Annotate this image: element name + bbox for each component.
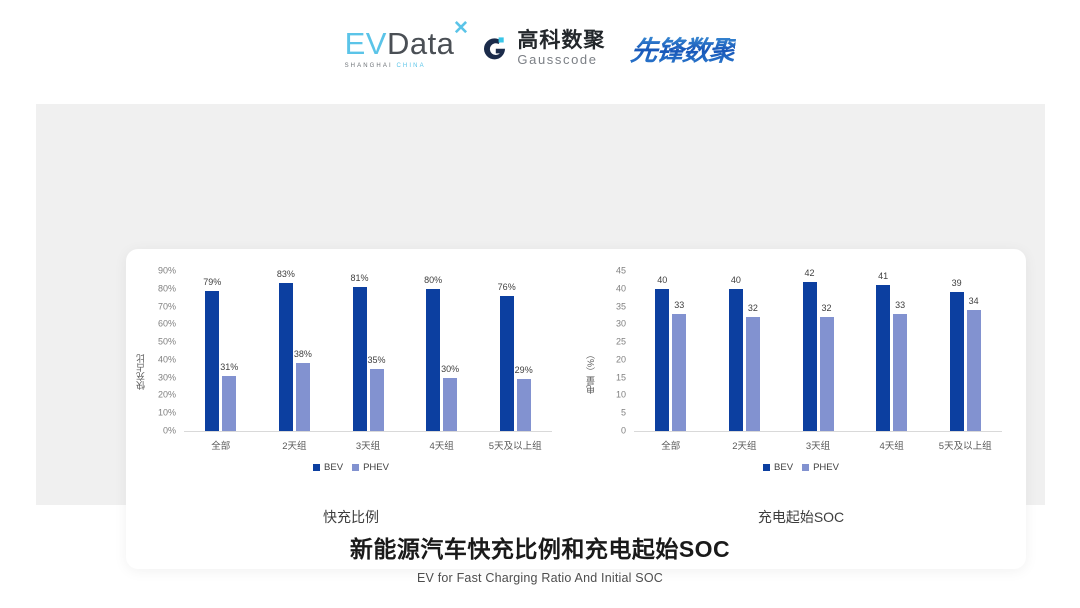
bar-phev-5 (967, 310, 981, 431)
plot-area-2: 电量（%）0510152025303540454033全部40322天组4232… (576, 249, 1026, 494)
y-axis-tick: 80% (126, 284, 176, 293)
legend-item-phev[interactable]: PHEV (352, 462, 389, 473)
bar-bev-5 (500, 296, 514, 431)
legend-label-bev: BEV (774, 462, 793, 473)
bar-value-label: 31% (220, 363, 238, 372)
bar-value-label: 41 (878, 272, 888, 281)
chart-legend: BEVPHEV (576, 462, 1026, 473)
charts-row: 快充占比0%10%20%30%40%50%60%70%80%90%79%31%全… (126, 249, 1026, 569)
x-axis-label: 2天组 (282, 438, 306, 452)
gausscode-en-name: Gausscode (517, 53, 605, 66)
bar-phev-1 (222, 376, 236, 431)
y-axis-tick: 0% (126, 427, 176, 436)
y-axis-tick: 40 (576, 284, 626, 293)
bar-bev-4 (426, 289, 440, 431)
x-axis-label: 2天组 (732, 438, 756, 452)
legend-item-bev[interactable]: BEV (313, 462, 343, 473)
slide-root: EVData✕ SHANGHAI CHINA 高科数聚 Gausscode 先锋… (0, 0, 1080, 608)
bar-value-label: 35% (367, 356, 385, 365)
chart-1: 快充占比0%10%20%30%40%50%60%70%80%90%79%31%全… (126, 249, 576, 569)
bar-phev-1 (672, 314, 686, 431)
bar-bev-1 (205, 291, 219, 431)
bar-value-label: 80% (424, 276, 442, 285)
evdata-tagline: SHANGHAI CHINA (345, 63, 426, 69)
bar-bev-4 (876, 285, 890, 431)
x-axis-line (184, 431, 552, 432)
y-axis-tick: 10 (576, 391, 626, 400)
bar-value-label: 29% (515, 366, 533, 375)
chart-2: 电量（%）0510152025303540454033全部40322天组4232… (576, 249, 1026, 569)
x-axis-label: 5天及以上组 (939, 438, 992, 452)
x-axis-label: 3天组 (356, 438, 380, 452)
bar-value-label: 33 (674, 301, 684, 310)
bar-value-label: 38% (294, 350, 312, 359)
x-axis-label: 4天组 (429, 438, 453, 452)
bar-bev-2 (279, 283, 293, 431)
chart-caption-1: 快充比例 (126, 507, 576, 527)
y-axis-tick: 15 (576, 373, 626, 382)
evdata-wordmark: EVData✕ (345, 28, 455, 59)
y-axis-tick: 70% (126, 302, 176, 311)
bar-value-label: 40 (657, 276, 667, 285)
x-axis-line (634, 431, 1002, 432)
bar-value-label: 76% (498, 283, 516, 292)
x-axis-label: 3天组 (806, 438, 830, 452)
bar-value-label: 40 (731, 276, 741, 285)
y-axis-tick: 45 (576, 267, 626, 276)
x-axis-label: 全部 (211, 438, 230, 452)
bar-phev-3 (370, 369, 384, 431)
bar-value-label: 79% (203, 278, 221, 287)
legend-item-phev[interactable]: PHEV (802, 462, 839, 473)
footer-title-cn: 新能源汽车快充比例和充电起始SOC (0, 530, 1080, 564)
y-axis-tick: 35 (576, 302, 626, 311)
y-axis-tick: 20% (126, 391, 176, 400)
gausscode-logo: 高科数聚 Gausscode (480, 30, 605, 66)
chart-legend: BEVPHEV (126, 462, 576, 473)
evdata-ev-text: EV (345, 26, 387, 61)
plot-area-1: 快充占比0%10%20%30%40%50%60%70%80%90%79%31%全… (126, 249, 576, 494)
legend-swatch-bev (313, 464, 320, 471)
evdata-tagline-city: SHANGHAI (345, 63, 393, 69)
y-axis-tick: 5 (576, 409, 626, 418)
y-axis-tick: 10% (126, 409, 176, 418)
y-axis-tick: 60% (126, 320, 176, 329)
y-axis-tick: 90% (126, 267, 176, 276)
legend-swatch-phev (802, 464, 809, 471)
bar-phev-4 (893, 314, 907, 431)
content-panel: 快充占比0%10%20%30%40%50%60%70%80%90%79%31%全… (36, 104, 1045, 505)
bar-phev-2 (746, 317, 760, 431)
bar-phev-2 (296, 363, 310, 431)
y-axis-tick: 0 (576, 427, 626, 436)
bar-bev-3 (353, 287, 367, 431)
bar-phev-5 (517, 379, 531, 431)
y-axis-tick: 20 (576, 355, 626, 364)
bar-value-label: 33 (895, 301, 905, 310)
bar-value-label: 30% (441, 365, 459, 374)
bar-value-label: 39 (952, 279, 962, 288)
footer-titles: 新能源汽车快充比例和充电起始SOC EV for Fast Charging R… (0, 530, 1080, 585)
evdata-logo: EVData✕ SHANGHAI CHINA (345, 28, 455, 69)
evdata-x-icon: ✕ (453, 19, 469, 38)
chart-caption-2: 充电起始SOC (576, 507, 1026, 527)
y-axis-tick: 40% (126, 355, 176, 364)
y-axis-tick: 50% (126, 338, 176, 347)
bar-value-label: 32 (748, 304, 758, 313)
evdata-tagline-country: CHINA (397, 63, 426, 69)
legend-item-bev[interactable]: BEV (763, 462, 793, 473)
bar-phev-3 (820, 317, 834, 431)
bar-bev-5 (950, 292, 964, 431)
xianfeng-logo: 先锋数聚 (629, 29, 737, 68)
gausscode-cn-name: 高科数聚 (517, 30, 605, 51)
y-axis-tick: 25 (576, 338, 626, 347)
bar-phev-4 (443, 378, 457, 431)
evdata-data-text: Data (387, 26, 454, 61)
x-axis-label: 4天组 (879, 438, 903, 452)
bar-value-label: 32 (821, 304, 831, 313)
footer-title-en: EV for Fast Charging Ratio And Initial S… (0, 571, 1080, 585)
charts-card: 快充占比0%10%20%30%40%50%60%70%80%90%79%31%全… (126, 249, 1026, 569)
x-axis-label: 5天及以上组 (489, 438, 542, 452)
y-axis-tick: 30% (126, 373, 176, 382)
x-axis-label: 全部 (661, 438, 680, 452)
bar-bev-2 (729, 289, 743, 431)
bar-value-label: 34 (969, 297, 979, 306)
legend-label-phev: PHEV (363, 462, 389, 473)
bar-bev-3 (803, 282, 817, 431)
bar-value-label: 42 (804, 269, 814, 278)
bar-bev-1 (655, 289, 669, 431)
logo-bar: EVData✕ SHANGHAI CHINA 高科数聚 Gausscode 先锋… (0, 18, 1080, 78)
bar-value-label: 83% (277, 270, 295, 279)
gausscode-text: 高科数聚 Gausscode (517, 30, 605, 66)
legend-swatch-bev (763, 464, 770, 471)
y-axis-tick: 30 (576, 320, 626, 329)
bar-value-label: 81% (350, 274, 368, 283)
gausscode-g-icon (480, 34, 509, 63)
legend-swatch-phev (352, 464, 359, 471)
legend-label-bev: BEV (324, 462, 343, 473)
legend-label-phev: PHEV (813, 462, 839, 473)
